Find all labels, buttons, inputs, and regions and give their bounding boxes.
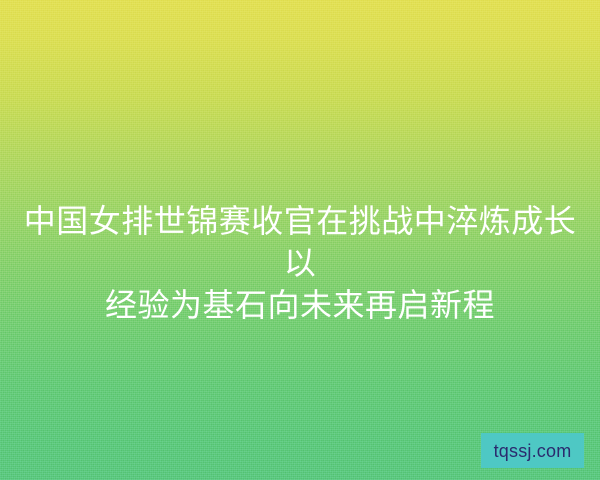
page-title: 中国女排世锦赛收官在挑战中淬炼成长以 经验为基石向未来再启新程 xyxy=(0,200,600,326)
watermark-label: tqssj.com xyxy=(494,442,572,460)
image-canvas: 中国女排世锦赛收官在挑战中淬炼成长以 经验为基石向未来再启新程 tqssj.co… xyxy=(0,0,600,480)
watermark-badge: tqssj.com xyxy=(481,433,584,468)
